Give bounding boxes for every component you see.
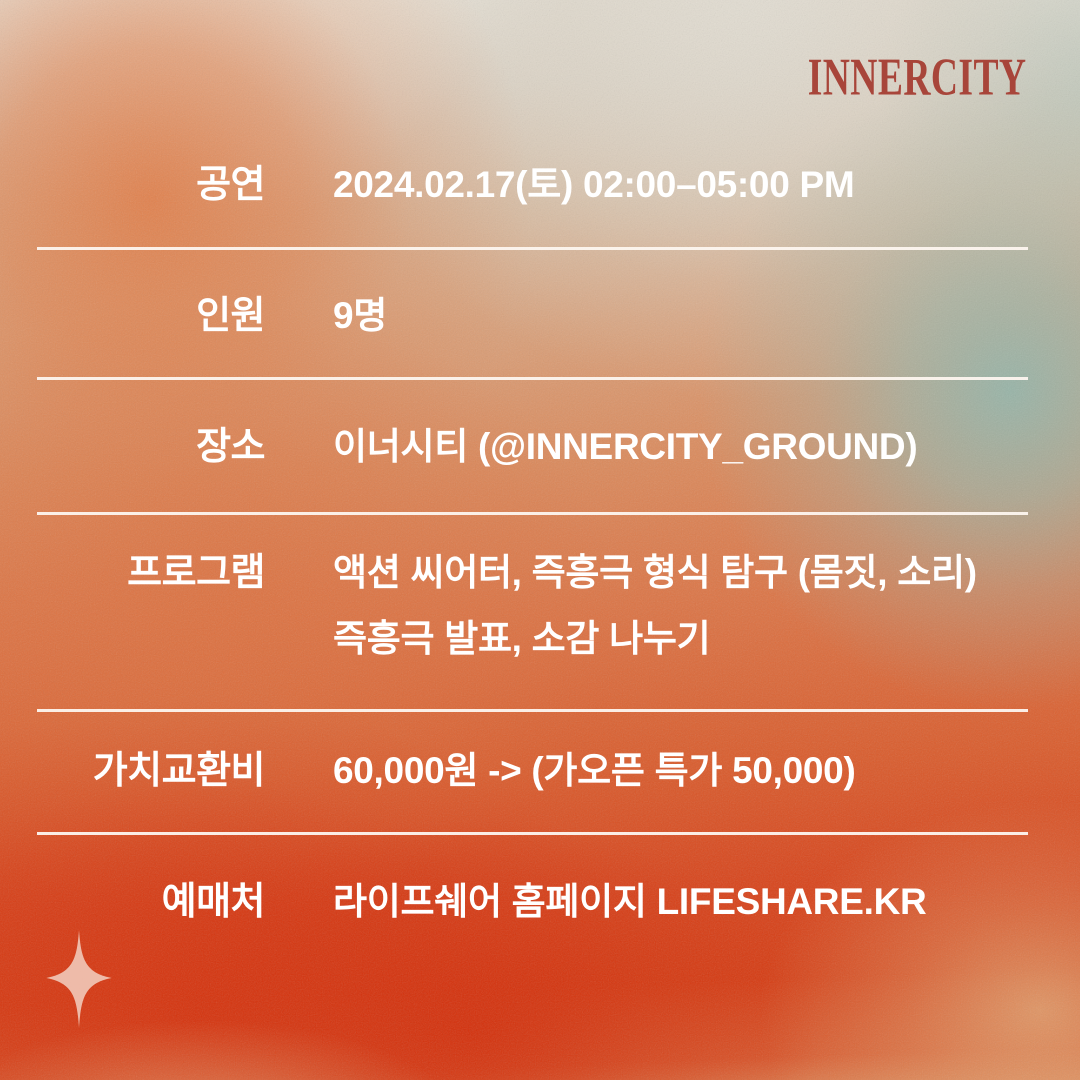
row-value-line: 9명 xyxy=(333,297,387,334)
table-row-venue: 장소 이너시티 (@INNERCITY_GROUND) xyxy=(0,428,1080,466)
row-value-line: 60,000원 -> (가오픈 특가 50,000) xyxy=(333,752,855,789)
row-label: 장소 xyxy=(0,428,265,466)
divider-rule-3 xyxy=(37,512,1028,515)
row-value-line: 2024.02.17(토) 02:00–05:00 PM xyxy=(333,166,854,203)
background-blob-tan-bottom-right xyxy=(760,800,1080,1080)
table-row-booking: 예매처 라이프쉐어 홈페이지 LIFESHARE.KR xyxy=(0,883,1080,921)
table-row-performance: 공연 2024.02.17(토) 02:00–05:00 PM xyxy=(0,166,1080,204)
divider-rule-5 xyxy=(37,832,1028,835)
divider-rule-1 xyxy=(37,247,1028,250)
row-value: 9명 xyxy=(333,297,387,334)
table-row-capacity: 인원 9명 xyxy=(0,297,1080,335)
row-label: 프로그램 xyxy=(0,554,265,592)
divider-rule-2 xyxy=(37,377,1028,380)
row-value: 60,000원 -> (가오픈 특가 50,000) xyxy=(333,752,855,789)
row-value: 액션 씨어터, 즉흥극 형식 탐구 (몸짓, 소리) 즉흥극 발표, 소감 나누… xyxy=(333,554,977,657)
row-value-line: 이너시티 (@INNERCITY_GROUND) xyxy=(333,428,917,465)
row-value: 2024.02.17(토) 02:00–05:00 PM xyxy=(333,166,854,203)
innercity-logo: INNERCITY xyxy=(807,52,1026,105)
row-label: 예매처 xyxy=(0,883,265,921)
table-row-price: 가치교환비 60,000원 -> (가오픈 특가 50,000) xyxy=(0,752,1080,790)
table-row-program: 프로그램 액션 씨어터, 즉흥극 형식 탐구 (몸짓, 소리) 즉흥극 발표, … xyxy=(0,554,1080,657)
row-label: 공연 xyxy=(0,166,265,204)
row-label: 인원 xyxy=(0,297,265,335)
row-value-line: 액션 씨어터, 즉흥극 형식 탐구 (몸짓, 소리) xyxy=(333,554,977,591)
row-value-line: 라이프쉐어 홈페이지 LIFESHARE.KR xyxy=(333,883,926,920)
row-label: 가치교환비 xyxy=(0,752,265,790)
background-blob-teal-corner xyxy=(880,0,1080,300)
row-value: 라이프쉐어 홈페이지 LIFESHARE.KR xyxy=(333,883,926,920)
row-value: 이너시티 (@INNERCITY_GROUND) xyxy=(333,428,917,465)
event-poster: INNERCITY 공연 2024.02.17(토) 02:00–05:00 P… xyxy=(0,0,1080,1080)
divider-rule-4 xyxy=(37,709,1028,712)
row-value-line: 즉흥극 발표, 소감 나누기 xyxy=(333,620,977,657)
four-pointed-star-sparkle-icon xyxy=(28,928,130,1030)
